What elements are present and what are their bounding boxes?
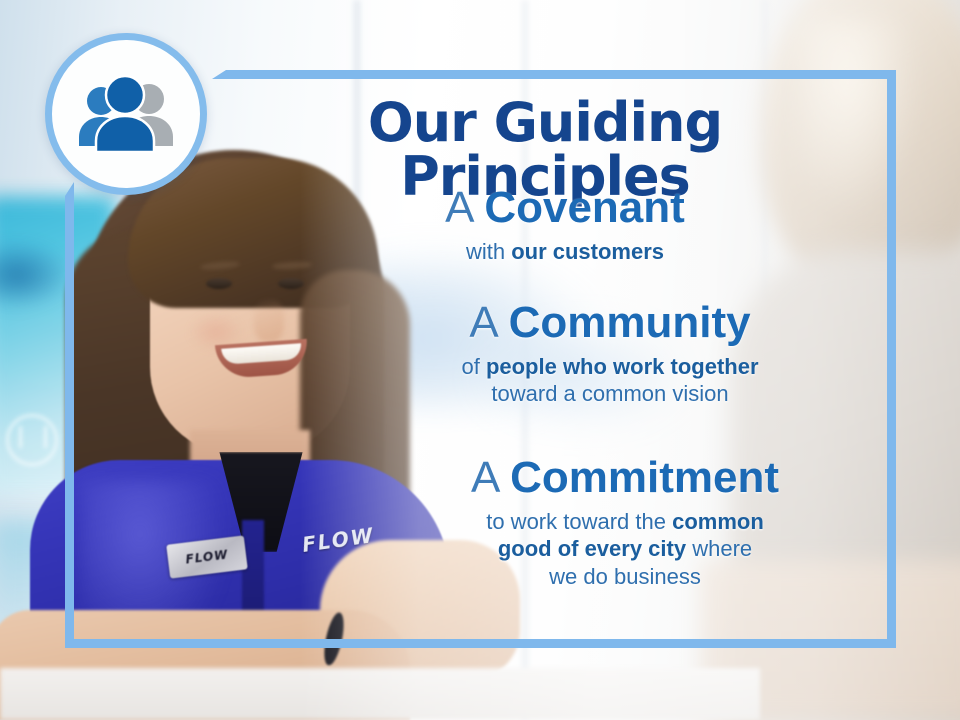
principle-block-community: A Community of people who work together … (300, 300, 920, 408)
name-badge-text: FLOW (185, 547, 229, 566)
principle-sub-bold2: good of every city (498, 536, 686, 561)
principle-sub-bold: our customers (511, 239, 664, 264)
principle-headline: A Community (300, 300, 920, 347)
principle-article: A (471, 453, 510, 502)
principle-sub-lead: to work toward the (486, 509, 672, 534)
table-surface (0, 668, 760, 720)
principle-subtext: of people who work together toward a com… (300, 353, 920, 408)
principle-article: A (469, 298, 508, 347)
principle-block-commitment: A Commitment to work toward the common g… (315, 455, 935, 591)
principle-sub-line2: we do business (549, 564, 701, 589)
principle-keyword: Commitment (510, 453, 779, 502)
people-group-icon (74, 75, 178, 153)
principle-keyword: Community (509, 298, 751, 347)
principle-headline: A Commitment (315, 455, 935, 502)
employee-nose (254, 300, 284, 342)
principle-sub-lead: of (461, 354, 485, 379)
principle-sub-tail: where (686, 536, 752, 561)
people-group-icon-badge (45, 33, 207, 195)
employee-teeth (221, 343, 302, 365)
principle-subtext: with our customers (255, 238, 875, 266)
principle-sub-lead: with (466, 239, 511, 264)
employee-eye (278, 278, 304, 289)
principle-sub-line2: toward a common vision (491, 381, 728, 406)
employee-eye (206, 278, 232, 289)
principle-keyword: Covenant (484, 183, 684, 232)
principle-headline: A Covenant (255, 185, 875, 232)
banner-graphic: FLOW FLOW Our Guiding Principles (0, 0, 960, 720)
principle-sub-bold: common (672, 509, 764, 534)
principle-block-covenant: A Covenant with our customers (255, 185, 875, 265)
principle-subtext: to work toward the common good of every … (315, 508, 935, 591)
principle-sub-bold: people who work together (486, 354, 759, 379)
principle-article: A (445, 183, 484, 232)
